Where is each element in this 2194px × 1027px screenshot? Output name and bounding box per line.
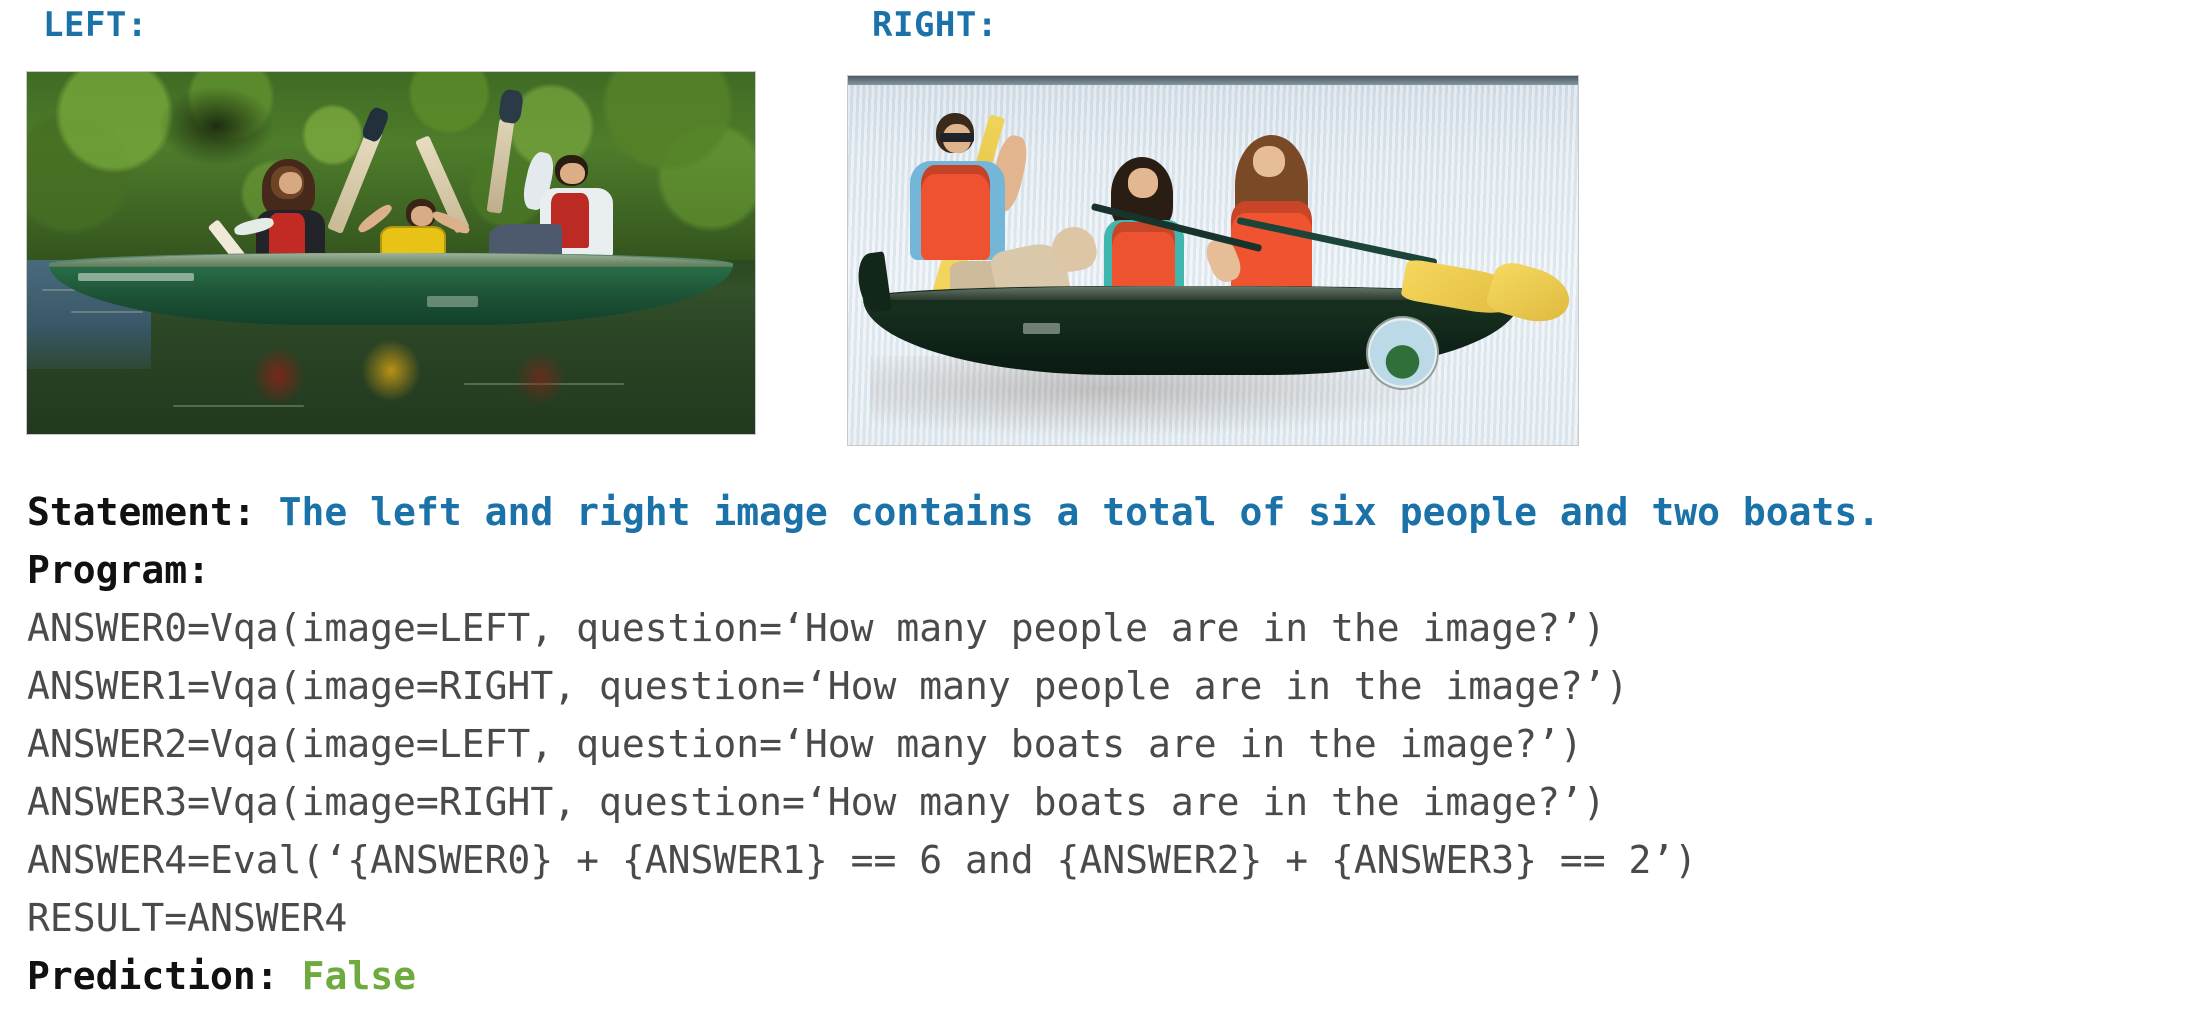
far-shoreline xyxy=(848,76,1578,85)
canoe-decal xyxy=(78,273,194,281)
prediction-line: Prediction: False xyxy=(27,947,2177,1005)
water-ripple xyxy=(71,311,144,313)
sunglasses-icon xyxy=(940,133,974,142)
program-line-3: ANSWER3=Vqa(image=RIGHT, question=‘How m… xyxy=(27,773,2177,831)
water-ripple xyxy=(173,405,304,407)
man-face xyxy=(560,163,585,185)
program-line-2: ANSWER2=Vqa(image=LEFT, question=‘How ma… xyxy=(27,715,2177,773)
program-line-0: ANSWER0=Vqa(image=LEFT, question=‘How ma… xyxy=(27,599,2177,657)
canoe-decal xyxy=(1023,323,1060,334)
canoe-logo xyxy=(427,296,478,307)
program-line-5: RESULT=ANSWER4 xyxy=(27,889,2177,947)
reflection-red-vest xyxy=(253,347,304,405)
man-orange-lifevest xyxy=(921,165,990,261)
reflection-yellow-vest xyxy=(362,340,420,402)
left-image xyxy=(27,72,755,434)
program-line-1: ANSWER1=Vqa(image=RIGHT, question=‘How m… xyxy=(27,657,2177,715)
woman2-face xyxy=(1253,146,1285,177)
child-face xyxy=(411,206,433,226)
right-image xyxy=(848,76,1578,445)
woman-face xyxy=(279,172,302,194)
reflection-red-vest-2 xyxy=(515,351,566,405)
left-image-scene xyxy=(27,72,755,434)
prediction-value: False xyxy=(302,954,416,998)
left-panel-label: LEFT: xyxy=(43,5,148,45)
right-image-scene xyxy=(848,76,1578,445)
canoe-round-logo xyxy=(1366,316,1439,390)
program-line-4: ANSWER4=Eval(‘{ANSWER0} + {ANSWER1} == 6… xyxy=(27,831,2177,889)
statement-line: Statement: The left and right image cont… xyxy=(27,483,2177,541)
program-text-block: Statement: The left and right image cont… xyxy=(27,483,2177,1005)
prediction-label: Prediction: xyxy=(27,954,279,998)
foliage-shadow xyxy=(158,86,274,166)
statement-text: The left and right image contains a tota… xyxy=(279,490,1880,534)
right-panel-label: RIGHT: xyxy=(872,5,998,45)
program-label: Program: xyxy=(27,541,2177,599)
statement-label: Statement: xyxy=(27,490,256,534)
woman1-face xyxy=(1128,168,1159,198)
